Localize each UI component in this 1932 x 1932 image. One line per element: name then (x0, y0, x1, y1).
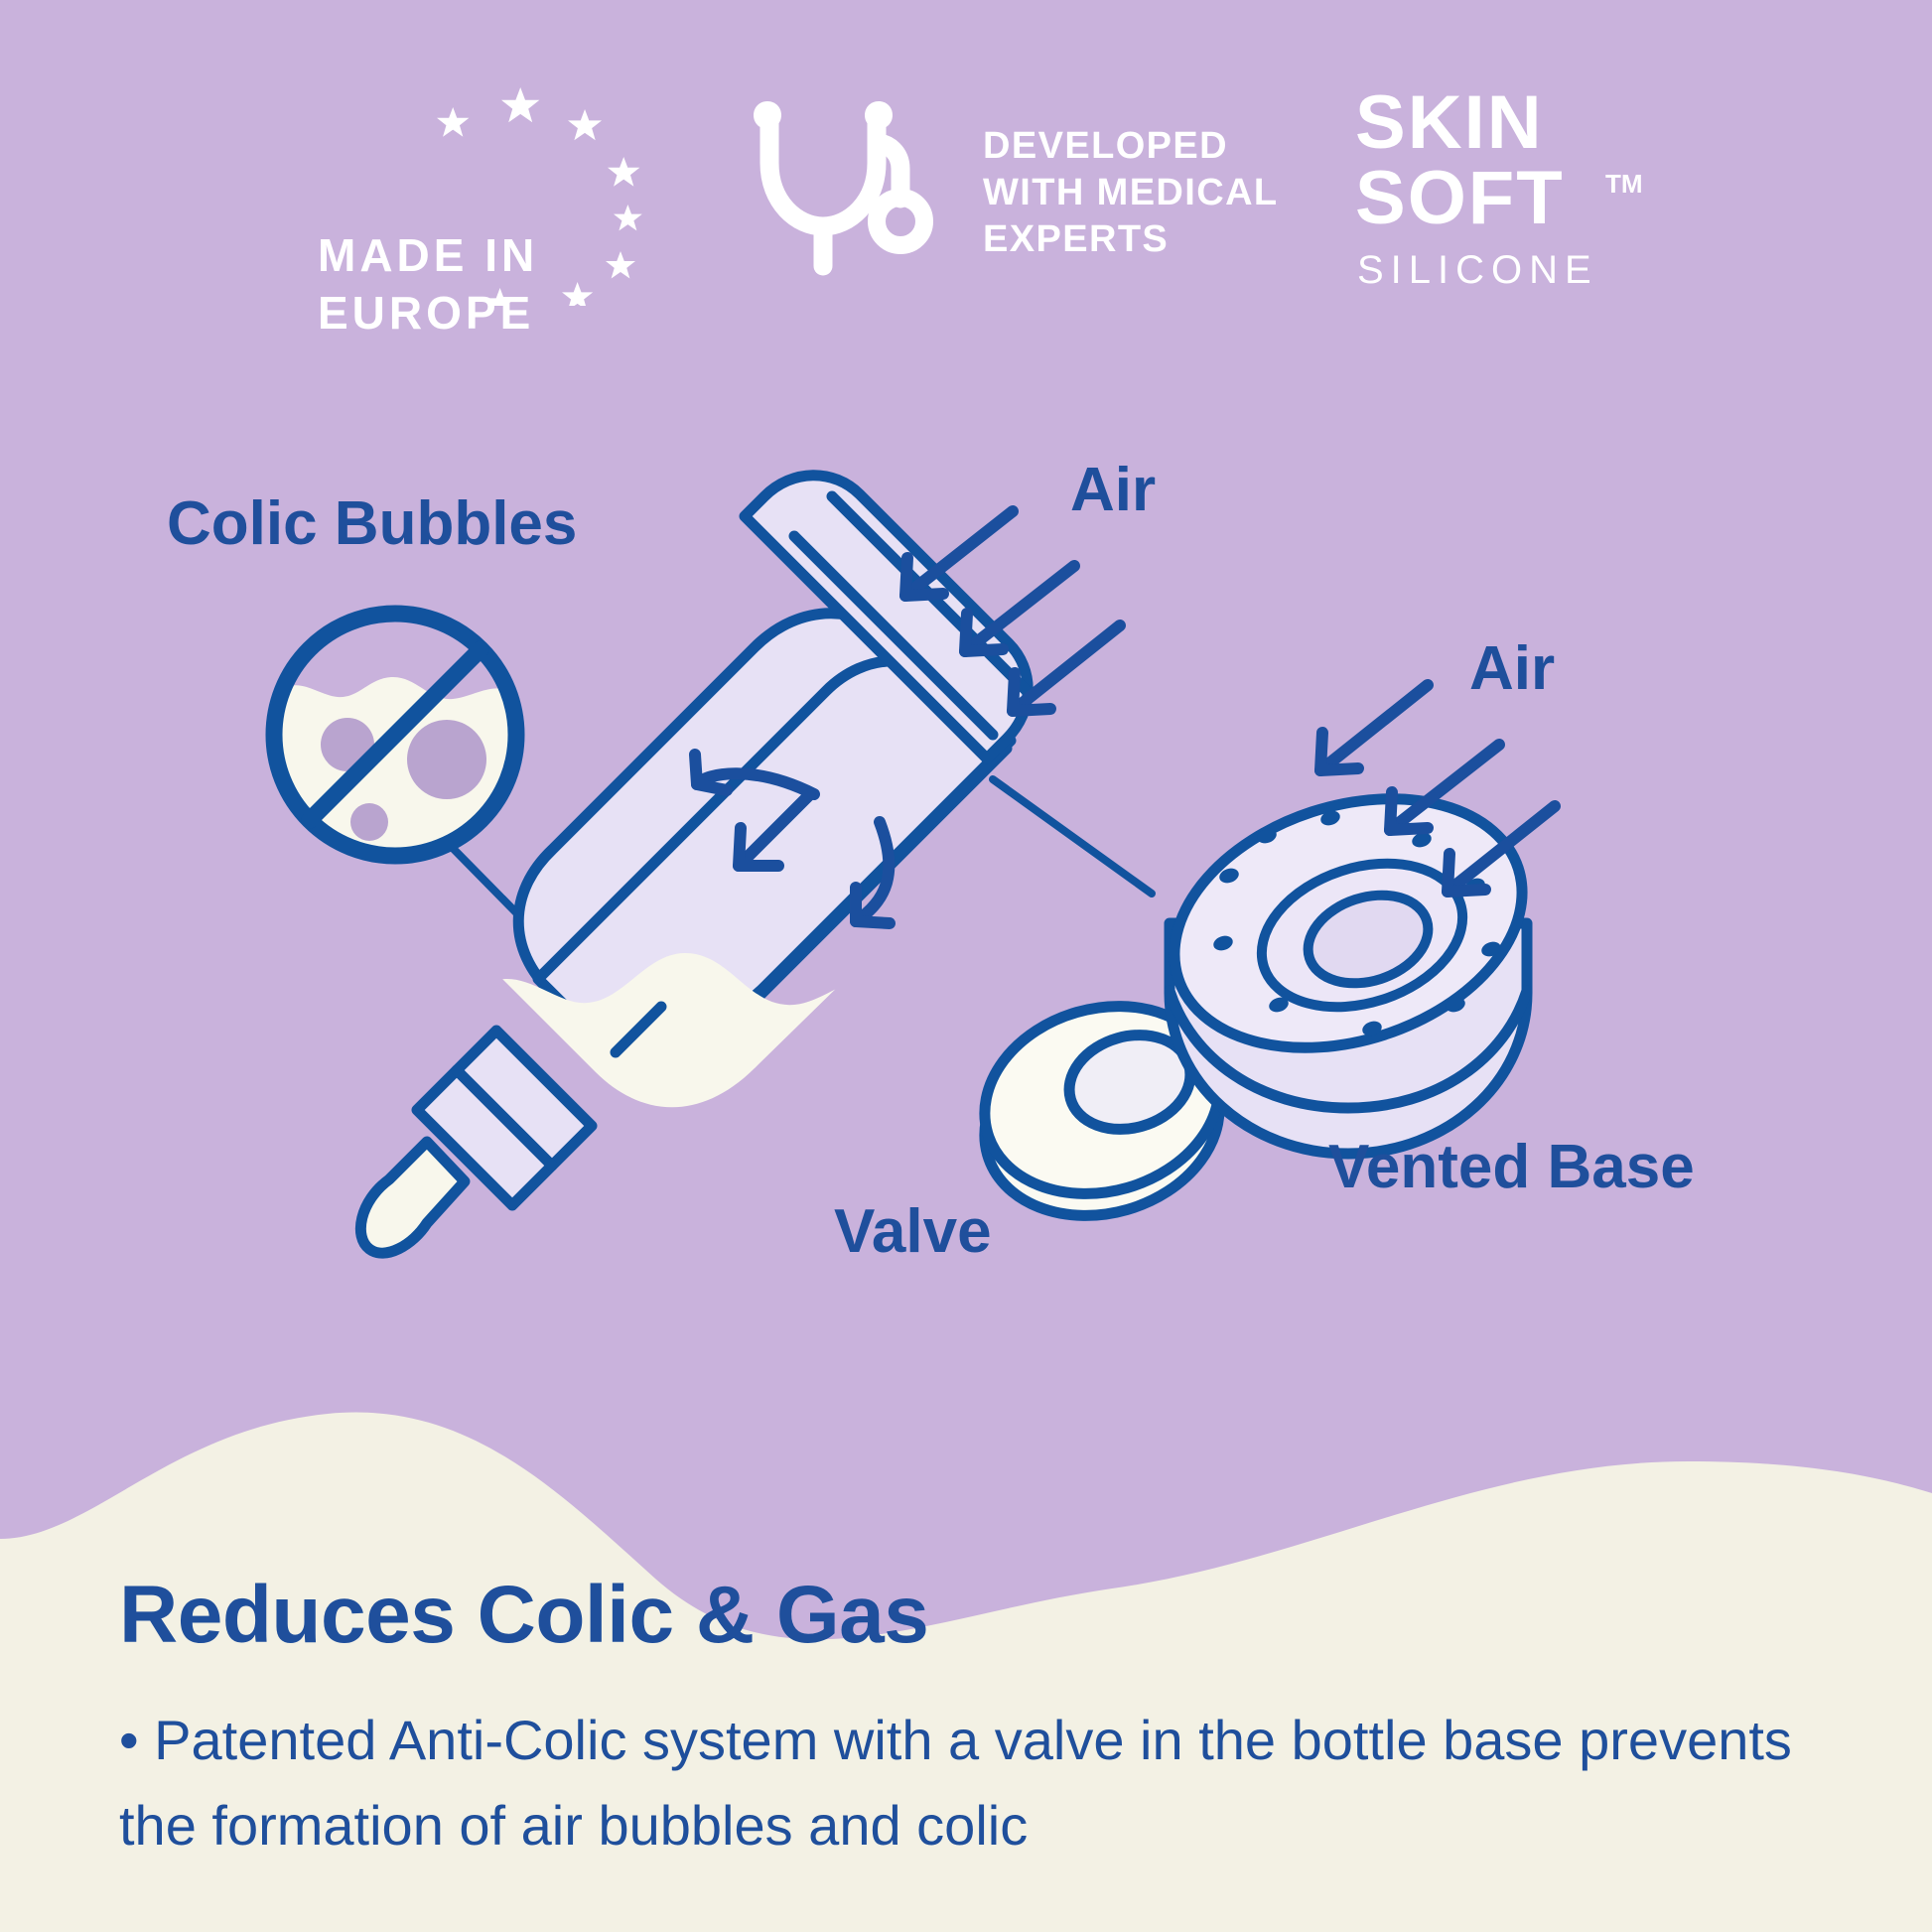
feature-bullet: • Patented Anti-Colic system with a valv… (119, 1698, 1807, 1868)
bullet-line-1: • Patented Anti-Colic system with a valv… (119, 1698, 1807, 1868)
label-air-left: Air (1070, 455, 1156, 525)
label-colic-bubbles: Colic Bubbles (167, 488, 577, 559)
page-headline: Reduces Colic & Gas (119, 1569, 928, 1662)
no-colic-bubbles-icon (268, 608, 526, 874)
infographic-root: MADE IN EUROPE DEVELOPED WITH MEDICAL EX… (0, 0, 1932, 1932)
label-valve: Valve (834, 1196, 992, 1267)
vented-base-icon (1142, 757, 1554, 1154)
label-air-right: Air (1469, 633, 1555, 704)
label-vented-base: Vented Base (1328, 1132, 1695, 1202)
